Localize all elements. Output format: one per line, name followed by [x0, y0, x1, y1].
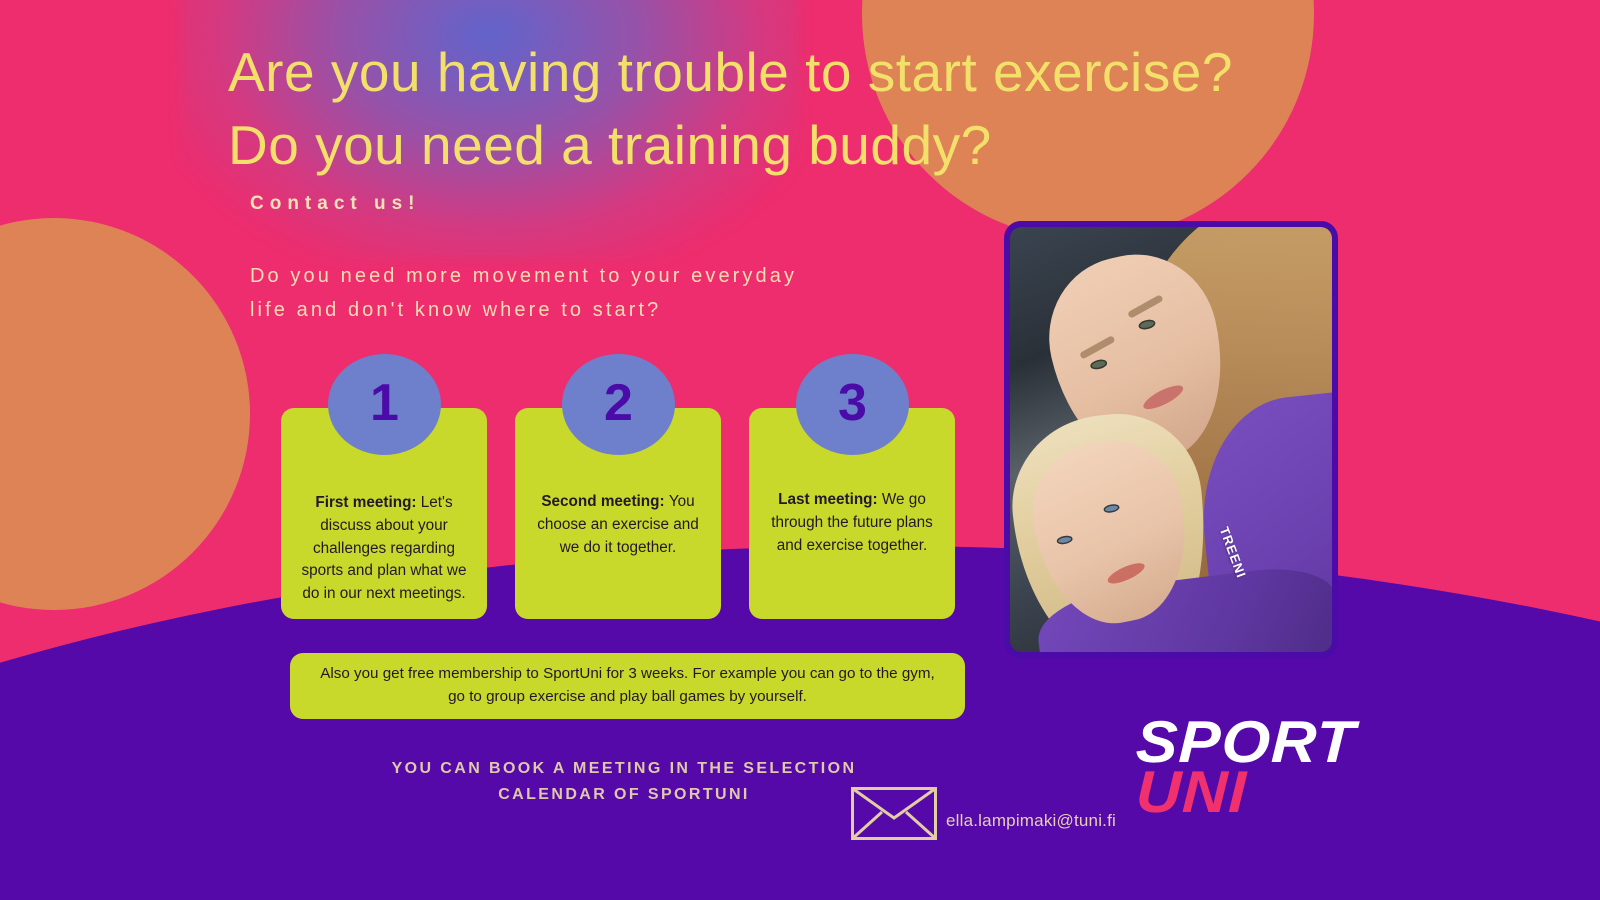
contact-cta-label: Contact us! [250, 193, 421, 215]
photo-face-lower-eye-right [1103, 503, 1120, 514]
step-badge-2: 2 [562, 354, 675, 455]
envelope-icon [851, 787, 937, 840]
photo-face-upper-brow-right [1127, 294, 1164, 319]
photo-face-upper-eye-right [1138, 318, 1157, 331]
step-card-2-text: Second meeting: You choose an exercise a… [526, 491, 710, 559]
page-title: Are you having trouble to start exercise… [228, 36, 1408, 182]
orange-circle-left [0, 218, 250, 610]
booking-instructions: YOU CAN BOOK A MEETING IN THE SELECTION … [370, 756, 878, 807]
contact-email[interactable]: ella.lampimaki@tuni.fi [946, 811, 1116, 831]
bonus-banner-text: Also you get free membership to SportUni… [312, 663, 943, 709]
bonus-banner: Also you get free membership to SportUni… [290, 653, 965, 719]
step-card-3-title: Last meeting [778, 491, 872, 508]
sportuni-logo-line2: UNI [1135, 768, 1356, 818]
step-card-3-text: Last meeting: We go through the future p… [760, 489, 944, 557]
step-badge-3: 3 [796, 354, 909, 455]
step-card-1-text: First meeting: Let's discuss about your … [292, 492, 476, 606]
step-card-1-title: First meeting [315, 494, 411, 511]
sportuni-logo: SPORT UNI [1136, 718, 1343, 817]
steps-group: First meeting: Let's discuss about your … [281, 354, 981, 634]
photo-face-upper-mouth [1140, 381, 1186, 413]
step-card-3-separator: : [873, 491, 882, 508]
photo-face-lower-eye-left [1056, 535, 1073, 546]
step-card-2-separator: : [659, 493, 668, 510]
lead-paragraph: Do you need more movement to your everyd… [250, 260, 950, 327]
step-card-1-separator: : [411, 494, 420, 511]
step-badge-1: 1 [328, 354, 441, 455]
avatar: TREENI [1004, 221, 1338, 658]
photo-face-lower-mouth [1105, 559, 1147, 587]
photo-inner: TREENI [1010, 227, 1332, 652]
photo-face-upper-brow-left [1079, 335, 1116, 360]
step-card-2-title: Second meeting [541, 493, 659, 510]
photo-face-upper-eye-left [1089, 358, 1108, 371]
poster-canvas: Are you having trouble to start exercise… [0, 0, 1600, 900]
